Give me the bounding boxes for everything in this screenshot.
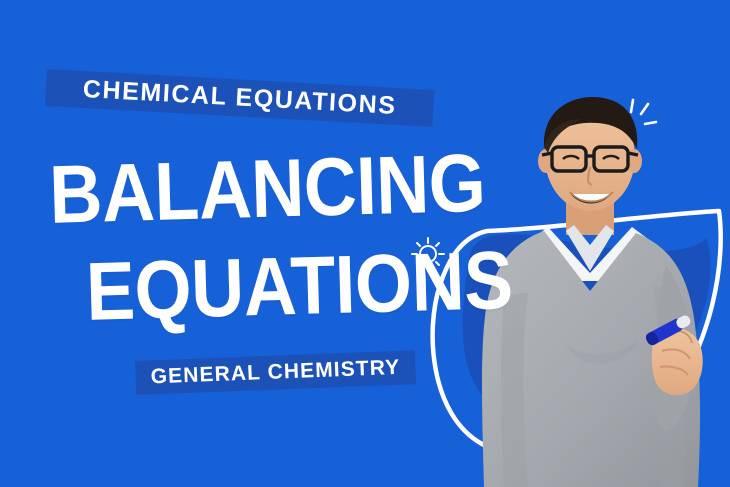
headline-line-2: EQUATIONS xyxy=(85,235,447,341)
video-thumbnail: CHEMICAL EQUATIONS BALANCING EQUATIONS G… xyxy=(0,0,730,487)
eyebrow-label: CHEMICAL EQUATIONS xyxy=(45,69,434,127)
presenter-head xyxy=(538,97,642,211)
page-title: BALANCING EQUATIONS xyxy=(34,137,439,330)
headline-line-1: BALANCING xyxy=(48,137,444,244)
subject-badge-label: GENERAL CHEMISTRY xyxy=(135,350,416,395)
